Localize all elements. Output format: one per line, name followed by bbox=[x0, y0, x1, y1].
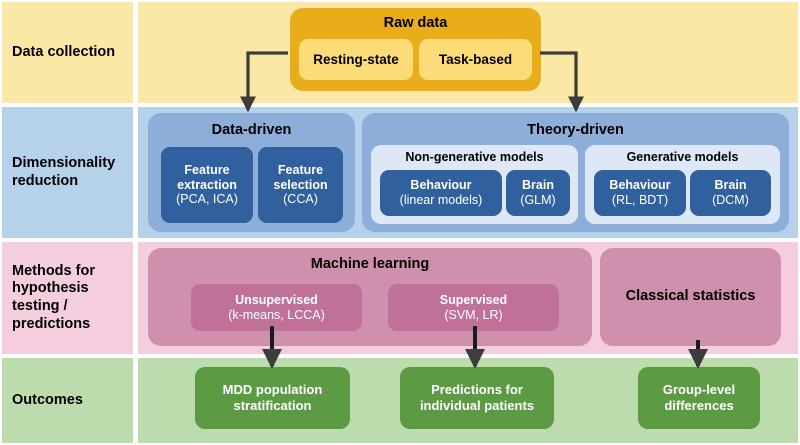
row-outcomes: Outcomes MDD population stratification P… bbox=[0, 358, 800, 443]
classical-statistics-title: Classical statistics bbox=[626, 288, 756, 305]
row-body-outcomes: MDD population stratification Prediction… bbox=[138, 358, 798, 443]
generative-brain-sub: (DCM) bbox=[712, 193, 749, 208]
non-generative-behaviour-box[interactable]: Behaviour (linear models) bbox=[380, 170, 502, 216]
row-body-methods: Machine learning Unsupervised (k-means, … bbox=[138, 242, 798, 354]
theory-driven-title: Theory-driven bbox=[527, 122, 624, 139]
supervised-title: Supervised bbox=[440, 293, 507, 308]
raw-data-box[interactable]: Raw data Resting-state Task-based bbox=[290, 8, 541, 91]
non-generative-brain-title: Brain bbox=[522, 178, 554, 193]
row-methods: Methods for hypothesis testing / predict… bbox=[0, 242, 800, 354]
generative-brain-title: Brain bbox=[715, 178, 747, 193]
row-label-data-collection: Data collection bbox=[2, 2, 133, 103]
predictions-individual-patients-line1: Predictions for bbox=[431, 382, 523, 398]
non-generative-models-title: Non-generative models bbox=[371, 150, 578, 165]
feature-selection-title-line1: Feature bbox=[278, 163, 323, 178]
task-based-label: Task-based bbox=[439, 52, 512, 68]
data-driven-group[interactable]: Data-driven Feature extraction (PCA, ICA… bbox=[148, 113, 355, 232]
raw-data-title: Raw data bbox=[384, 15, 448, 32]
theory-driven-group[interactable]: Theory-driven Non-generative models Beha… bbox=[362, 113, 789, 232]
non-generative-brain-box[interactable]: Brain (GLM) bbox=[506, 170, 570, 216]
classical-statistics-box[interactable]: Classical statistics bbox=[600, 248, 781, 346]
generative-behaviour-sub: (RL, BDT) bbox=[612, 193, 668, 208]
unsupervised-sub: (k-means, LCCA) bbox=[228, 308, 325, 323]
row-label-outcomes: Outcomes bbox=[2, 358, 133, 443]
feature-extraction-title-line1: Feature bbox=[184, 163, 229, 178]
feature-selection-box[interactable]: Feature selection (CCA) bbox=[258, 147, 343, 223]
row-body-data-collection: Raw data Resting-state Task-based bbox=[138, 2, 798, 103]
data-driven-title: Data-driven bbox=[212, 122, 292, 139]
resting-state-label: Resting-state bbox=[313, 52, 399, 68]
generative-models-title: Generative models bbox=[585, 150, 780, 165]
generative-behaviour-title: Behaviour bbox=[609, 178, 670, 193]
unsupervised-box[interactable]: Unsupervised (k-means, LCCA) bbox=[191, 284, 362, 331]
predictions-individual-patients-line2: individual patients bbox=[420, 398, 534, 414]
row-body-dimensionality-reduction: Data-driven Feature extraction (PCA, ICA… bbox=[138, 107, 798, 238]
group-level-differences-line1: Group-level bbox=[663, 382, 735, 398]
row-label-methods: Methods for hypothesis testing / predict… bbox=[2, 242, 133, 354]
machine-learning-title: Machine learning bbox=[311, 256, 429, 273]
generative-models-group[interactable]: Generative models Behaviour (RL, BDT) Br… bbox=[585, 145, 780, 224]
feature-extraction-title-line2: extraction bbox=[177, 178, 237, 193]
feature-selection-sub: (CCA) bbox=[283, 192, 318, 207]
pipeline-diagram: Data collection Raw data Resting-state T… bbox=[0, 0, 800, 445]
feature-selection-title-line2: selection bbox=[273, 178, 327, 193]
task-based-box[interactable]: Task-based bbox=[419, 39, 532, 80]
supervised-box[interactable]: Supervised (SVM, LR) bbox=[388, 284, 559, 331]
row-dimensionality-reduction: Dimensionality reduction Data-driven Fea… bbox=[0, 107, 800, 238]
unsupervised-title: Unsupervised bbox=[235, 293, 318, 308]
row-label-dimensionality-reduction: Dimensionality reduction bbox=[2, 107, 133, 238]
mdd-population-stratification-box[interactable]: MDD population stratification bbox=[195, 367, 350, 429]
non-generative-models-group[interactable]: Non-generative models Behaviour (linear … bbox=[371, 145, 578, 224]
non-generative-behaviour-sub: (linear models) bbox=[400, 193, 483, 208]
feature-extraction-box[interactable]: Feature extraction (PCA, ICA) bbox=[161, 147, 253, 223]
group-level-differences-line2: differences bbox=[664, 398, 733, 414]
non-generative-behaviour-title: Behaviour bbox=[410, 178, 471, 193]
group-level-differences-box[interactable]: Group-level differences bbox=[638, 367, 760, 429]
resting-state-box[interactable]: Resting-state bbox=[299, 39, 413, 80]
row-data-collection: Data collection Raw data Resting-state T… bbox=[0, 2, 800, 103]
generative-behaviour-box[interactable]: Behaviour (RL, BDT) bbox=[594, 170, 686, 216]
supervised-sub: (SVM, LR) bbox=[444, 308, 502, 323]
mdd-population-stratification-line1: MDD population bbox=[223, 382, 323, 398]
generative-brain-box[interactable]: Brain (DCM) bbox=[690, 170, 771, 216]
non-generative-brain-sub: (GLM) bbox=[520, 193, 555, 208]
feature-extraction-sub: (PCA, ICA) bbox=[176, 192, 238, 207]
predictions-individual-patients-box[interactable]: Predictions for individual patients bbox=[400, 367, 554, 429]
machine-learning-group[interactable]: Machine learning Unsupervised (k-means, … bbox=[148, 248, 592, 346]
mdd-population-stratification-line2: stratification bbox=[233, 398, 311, 414]
